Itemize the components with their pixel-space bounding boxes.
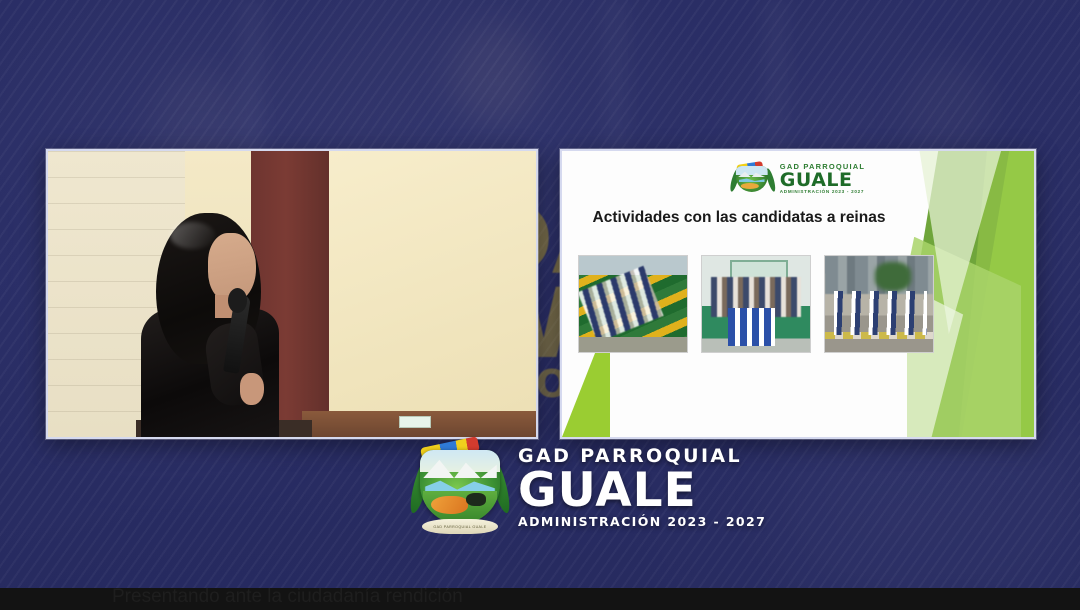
slide-photo-row xyxy=(578,255,934,353)
photo-front-row xyxy=(728,308,776,346)
slide-logo: GAD PARROQUIAL GUALE ADMINISTRACIÓN 2023… xyxy=(731,163,865,195)
microphone-head xyxy=(228,288,247,313)
slide-canvas: GAD PARROQUIAL GUALE ADMINISTRACIÓN 2023… xyxy=(562,151,1034,437)
photo-trees xyxy=(875,262,912,291)
shield-produce xyxy=(431,496,468,514)
shield-sky xyxy=(736,166,768,175)
list-item xyxy=(578,255,688,353)
slide-logo-bottom-line: ADMINISTRACIÓN 2023 - 2027 xyxy=(780,190,865,195)
caption-text: Presentando ante la ciudadanía rendición xyxy=(112,586,463,608)
coat-of-arms-icon xyxy=(731,163,775,195)
wall-cream-right xyxy=(329,151,536,437)
speaker-figure xyxy=(131,208,307,437)
shield-motto-text: GAD PARROQUIAL GUALE xyxy=(433,525,486,529)
shield-river xyxy=(739,178,765,182)
presentation-slide-panel[interactable]: GAD PARROQUIAL GUALE ADMINISTRACIÓN 2023… xyxy=(560,149,1036,439)
slide-title: Actividades con las candidatas a reinas xyxy=(562,209,916,227)
list-item xyxy=(701,255,811,353)
slide-logo-main-line: GUALE xyxy=(780,171,865,190)
speaker-hand xyxy=(240,373,265,405)
banner-bottom-line: ADMINISTRACIÓN 2023 - 2027 xyxy=(518,516,766,529)
coat-of-arms: GAD PARROQUIAL GUALE xyxy=(412,442,508,534)
list-item xyxy=(824,255,934,353)
speaker-scene xyxy=(48,151,536,437)
shield-livestock xyxy=(466,493,485,506)
speaker-video-panel[interactable] xyxy=(46,149,538,439)
shield xyxy=(420,450,500,524)
photo-lineup xyxy=(834,291,927,335)
photo-ground xyxy=(579,337,687,352)
livestream-screen: DA W AYO xyxy=(0,0,1080,610)
shield-field xyxy=(741,183,759,189)
shield-motto-scroll: GAD PARROQUIAL GUALE xyxy=(422,519,498,534)
desk-plaque xyxy=(399,416,430,428)
banner-wordmark: GAD PARROQUIAL GUALE ADMINISTRACIÓN 2023… xyxy=(518,447,766,529)
caption-bar: Presentando ante la ciudadanía rendición xyxy=(0,588,1080,610)
slide-logo-wordmark: GAD PARROQUIAL GUALE ADMINISTRACIÓN 2023… xyxy=(780,163,865,194)
shield-icon xyxy=(736,166,768,192)
channel-banner-logo: GAD PARROQUIAL GUALE GAD PARROQUIAL GUAL… xyxy=(412,442,766,534)
banner-main-line: GUALE xyxy=(518,467,766,514)
